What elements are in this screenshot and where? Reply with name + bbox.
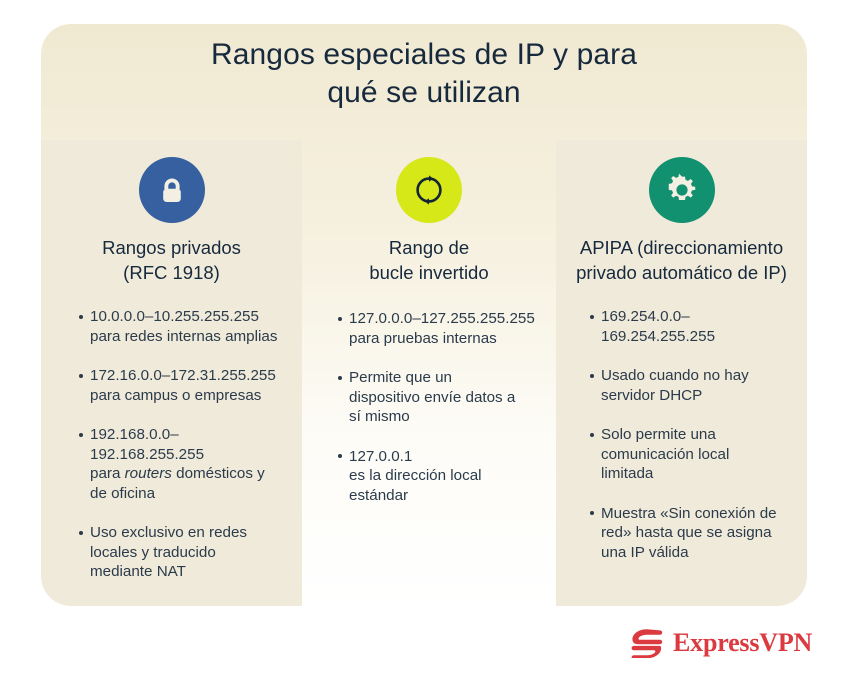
bullet-line: Usado cuando no hay [601,366,791,386]
bullet-line: dispositivo envíe datos a [349,388,538,408]
bullet-text-pre: para [90,465,125,482]
bullet-line: Muestra «Sin conexión de [601,504,791,524]
bullet-text-emphasis: routers [125,465,172,482]
infographic-root: Rangos especiales de IP y para qué se ut… [0,0,855,687]
column-3-heading-line-2: privado automático de IP) [568,260,795,285]
list-item: 192.168.0.0–192.168.255.255 para routers… [79,425,282,503]
bullet-line: sí mismo [349,407,538,427]
expressvpn-logo: ExpressVPN [630,628,812,658]
list-item: 169.254.0.0–169.254.255.255 [590,307,791,346]
bullet-line: 172.16.0.0–172.31.255.255 [90,366,282,386]
bullet-line: para pruebas internas [349,329,538,349]
list-item: Uso exclusivo en redes locales y traduci… [79,523,282,582]
columns-container: Rangos privados (RFC 1918) 10.0.0.0–10.2… [41,140,807,606]
column-2-heading-line-2: bucle invertido [316,260,542,285]
column-loopback-range: Rango de bucle invertido 127.0.0.0–127.2… [302,140,556,606]
column-2-bullet-list: 127.0.0.0–127.255.255.255 para pruebas i… [316,309,542,505]
bullet-line: 169.254.0.0–169.254.255.255 [601,307,791,346]
bullet-line: es la dirección local [349,466,538,486]
bullet-text-post: domésticos y [172,465,265,482]
bullet-line: estándar [349,486,538,506]
lock-icon [139,157,205,223]
column-3-heading: APIPA (direccionamiento privado automáti… [568,235,795,285]
bullet-line: locales y traducido [90,543,282,563]
list-item: Muestra «Sin conexión de red» hasta que … [590,504,791,563]
list-item: 172.16.0.0–172.31.255.255 para campus o … [79,366,282,405]
column-apipa: APIPA (direccionamiento privado automáti… [556,140,807,606]
column-1-heading: Rangos privados (RFC 1918) [57,235,286,285]
column-1-heading-line-1: Rangos privados [57,235,286,260]
list-item: Permite que un dispositivo envíe datos a… [338,368,538,427]
page-title-line-1: Rangos especiales de IP y para [41,36,807,74]
page-title: Rangos especiales de IP y para qué se ut… [41,36,807,112]
bullet-line: 192.168.0.0–192.168.255.255 [90,425,282,464]
list-item: Solo permite una comunicación local limi… [590,425,791,484]
column-3-heading-line-1: APIPA (direccionamiento [568,235,795,260]
bullet-line: 127.0.0.1 [349,447,538,467]
column-2-heading-line-1: Rango de [316,235,542,260]
column-1-bullet-list: 10.0.0.0–10.255.255.255 para redes inter… [57,307,286,582]
bullet-line: de oficina [90,484,282,504]
bullet-line: Uso exclusivo en redes [90,523,282,543]
bullet-line: servidor DHCP [601,386,791,406]
bullet-line: mediante NAT [90,562,282,582]
bullet-line: 10.0.0.0–10.255.255.255 [90,307,282,327]
list-item: 10.0.0.0–10.255.255.255 para redes inter… [79,307,282,346]
bullet-line: comunicación local [601,445,791,465]
bullet-line: Solo permite una [601,425,791,445]
column-2-heading: Rango de bucle invertido [316,235,542,285]
list-item: Usado cuando no hay servidor DHCP [590,366,791,405]
gear-icon [649,157,715,223]
expressvpn-wordmark: ExpressVPN [673,630,812,656]
expressvpn-logo-mark [630,628,664,658]
bullet-line: Permite que un [349,368,538,388]
bullet-line: limitada [601,464,791,484]
list-item: 127.0.0.1 es la dirección local estándar [338,447,538,506]
column-3-bullet-list: 169.254.0.0–169.254.255.255 Usado cuando… [568,307,795,562]
column-1-heading-line-2: (RFC 1918) [57,260,286,285]
column-private-ranges: Rangos privados (RFC 1918) 10.0.0.0–10.2… [41,140,302,606]
page-title-line-2: qué se utilizan [41,74,807,112]
list-item: 127.0.0.0–127.255.255.255 para pruebas i… [338,309,538,348]
bullet-line: para campus o empresas [90,386,282,406]
bullet-line: para redes internas amplias [90,327,282,347]
bullet-line: red» hasta que se asigna [601,523,791,543]
bullet-line: una IP válida [601,543,791,563]
bullet-line: para routers domésticos y [90,464,282,484]
bullet-line: 127.0.0.0–127.255.255.255 [349,309,538,329]
loop-arrow-icon [396,157,462,223]
